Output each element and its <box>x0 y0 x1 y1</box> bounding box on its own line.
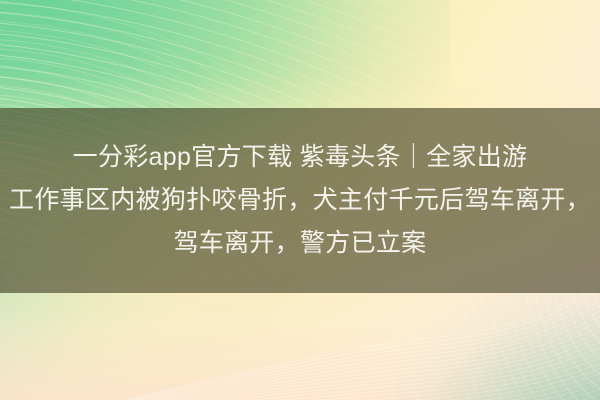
headline-line-2-wrap: 工作事区内被狗扑咬骨折，犬主付千元后驾车离开， <box>0 179 600 222</box>
headline-line-1: 一分彩app官方下载 紫毒头条｜全家出游 <box>73 136 528 179</box>
headline-block: 一分彩app官方下载 紫毒头条｜全家出游 工作事区内被狗扑咬骨折，犬主付千元后驾… <box>0 108 600 293</box>
promo-banner: 一分彩app官方下载 紫毒头条｜全家出游 工作事区内被狗扑咬骨折，犬主付千元后驾… <box>0 0 600 400</box>
headline-line-2: 工作事区内被狗扑咬骨折，犬主付千元后驾车离开， <box>9 179 591 222</box>
headline-line-3: 驾车离开，警方已立案 <box>173 222 426 265</box>
